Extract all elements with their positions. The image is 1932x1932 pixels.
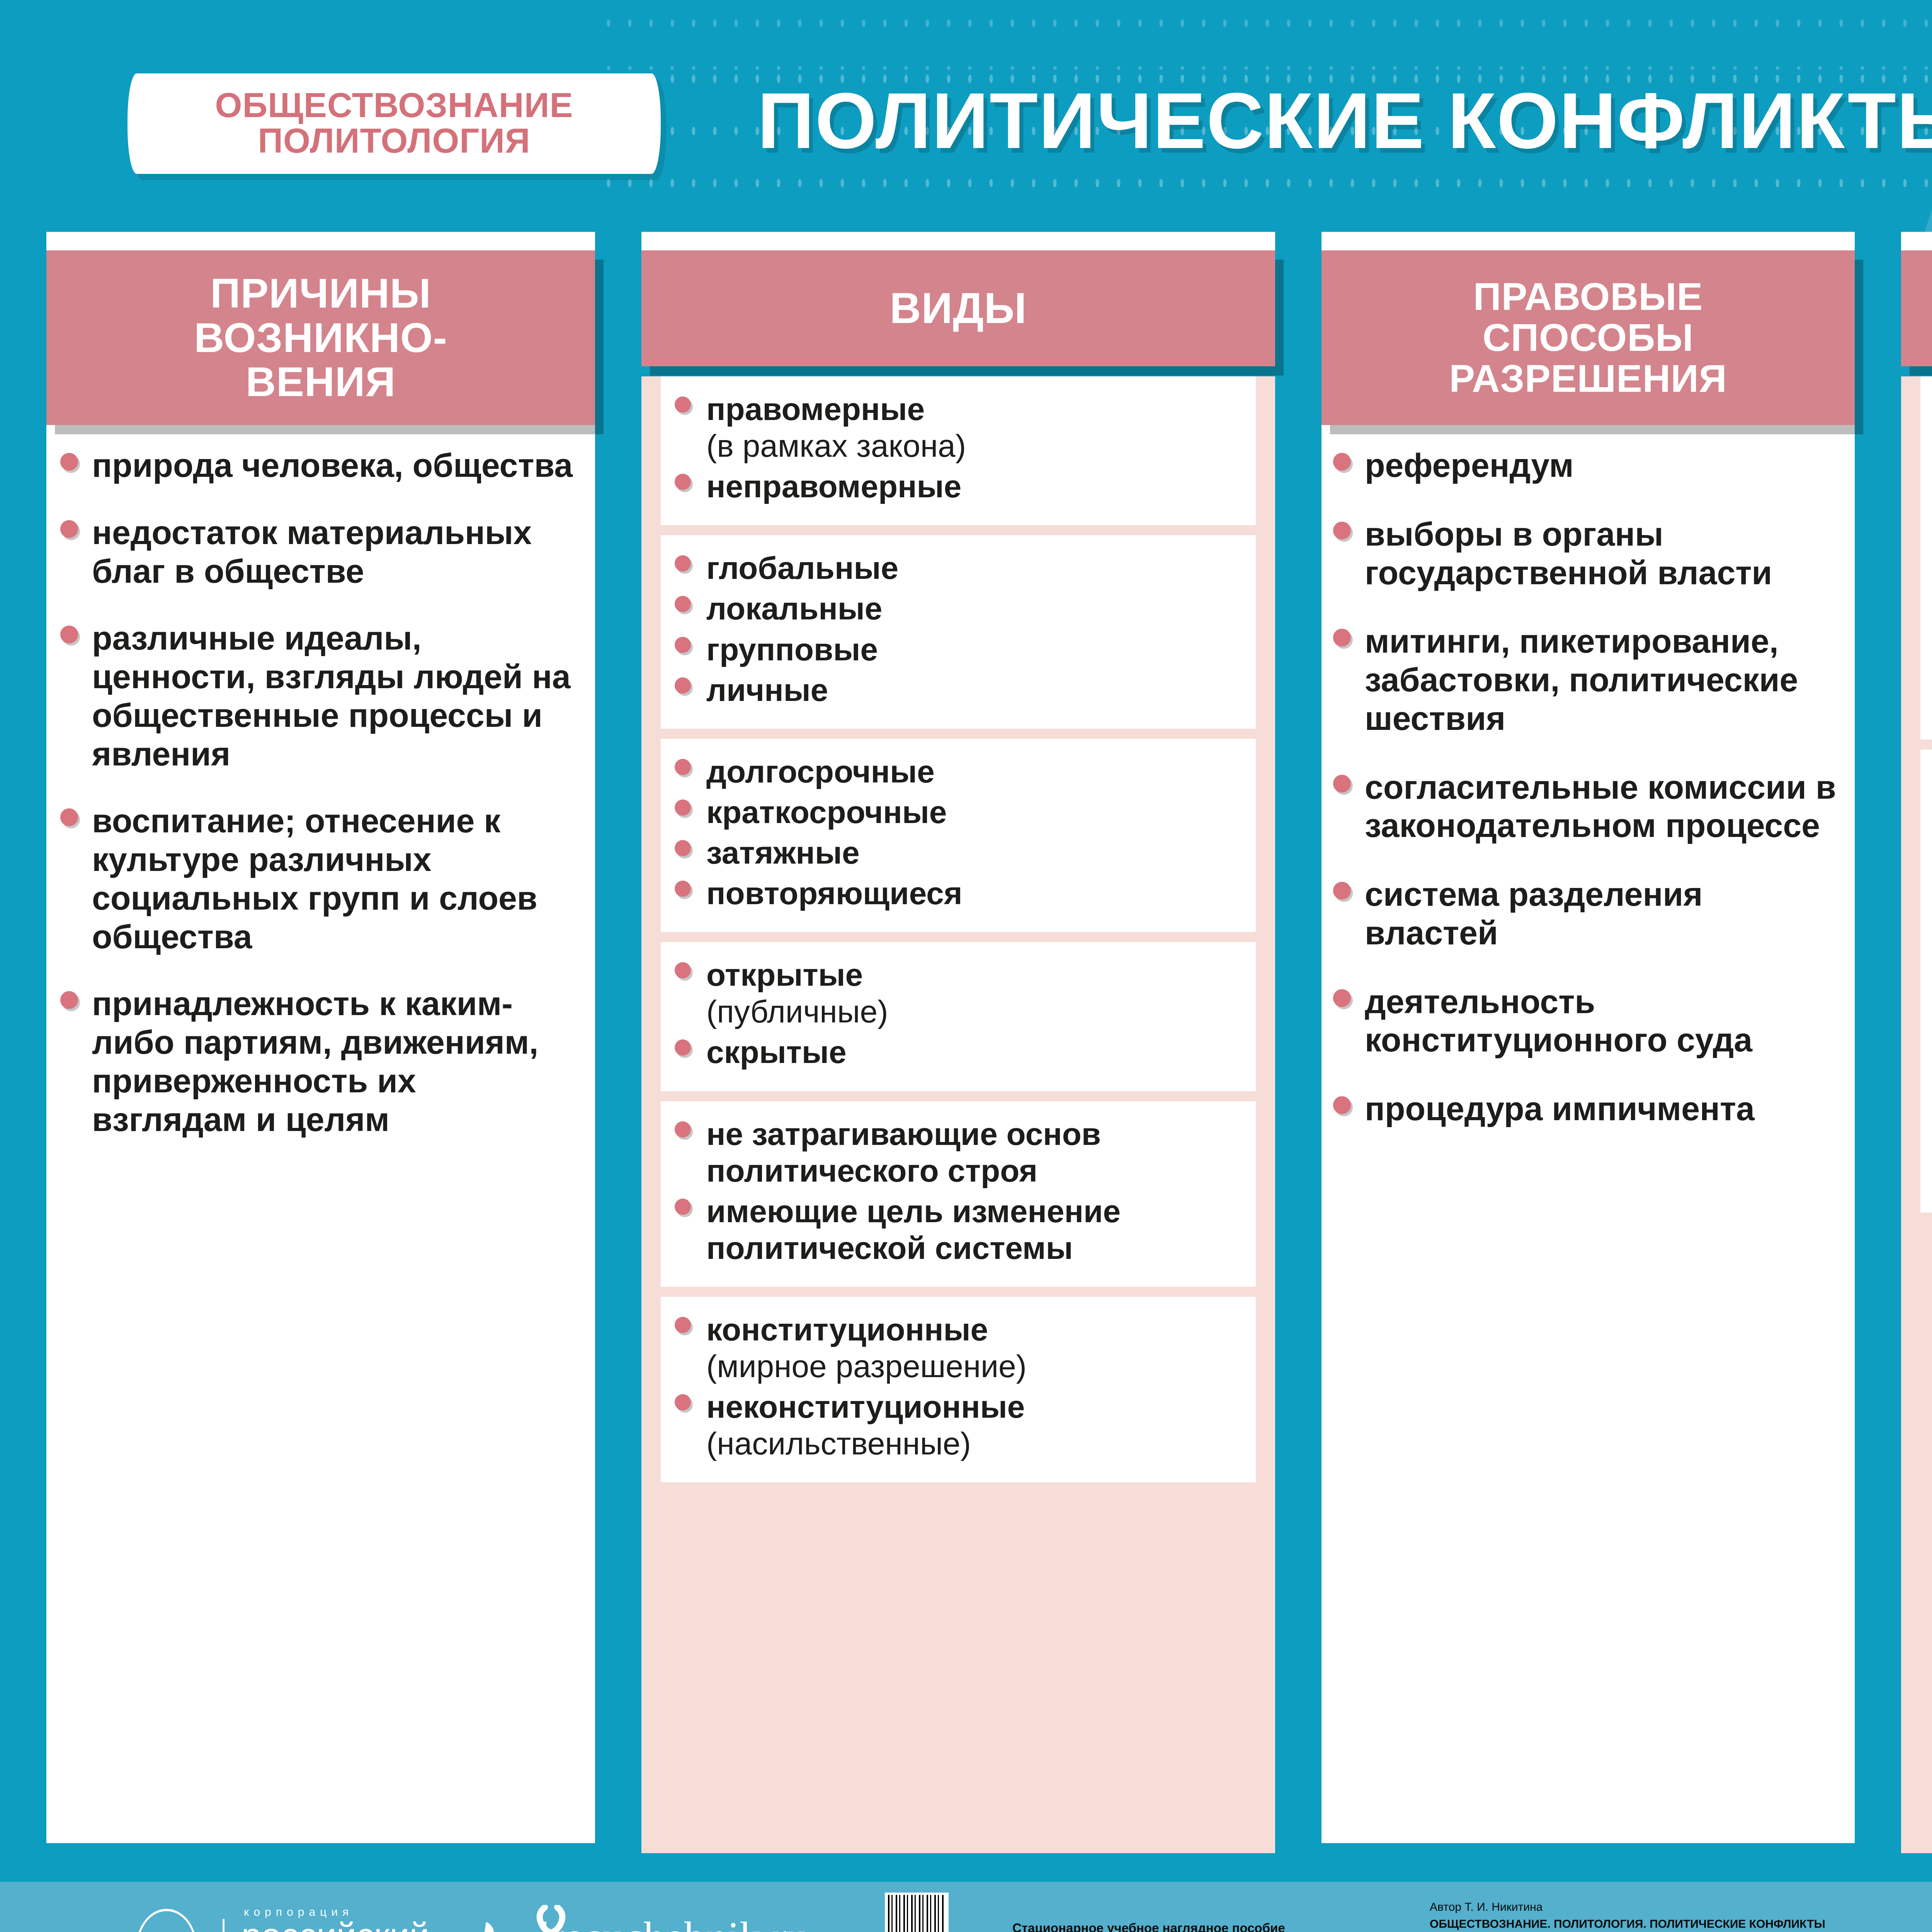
header-line: ВОЗНИКНО- bbox=[194, 314, 447, 361]
column-body-vidy: правомерные(в рамках закона) неправомерн… bbox=[641, 376, 1275, 1853]
column-funkcii: ФУНКЦИИ Отрицательные дестабилизация вла… bbox=[1901, 232, 1932, 1853]
item-text: правомерные bbox=[706, 392, 925, 427]
header-line: РАЗРЕШЕНИЯ bbox=[1449, 357, 1727, 400]
column-header-pravovye: ПРАВОВЫЕ СПОСОБЫ РАЗРЕШЕНИЯ bbox=[1321, 250, 1855, 425]
list-item: возникновение вооруженных конфликтов и и… bbox=[1927, 499, 1932, 572]
publisher-logo-block: RУ корпорация российский учебник дрофа bbox=[128, 1905, 594, 1932]
column-body-prichiny: природа челове­ка, общества недостаток м… bbox=[46, 425, 595, 1843]
subject-badge: ОБЩЕСТВОЗНАНИЕ ПОЛИТОЛОГИЯ bbox=[128, 73, 661, 174]
list-item: дестабилизация власти bbox=[1927, 449, 1932, 485]
list-item: повторяющиеся bbox=[665, 875, 1244, 912]
author-line: Автор Т. И. Никитина bbox=[1430, 1899, 1825, 1916]
section-heading-positive: Положительные bbox=[1927, 767, 1932, 810]
group-card: долгосрочные краткосрочные затяжные повт… bbox=[661, 739, 1256, 932]
list-item: влияние на внешнюю и внутреннюю политику bbox=[1927, 1145, 1932, 1182]
header-line: ПРИЧИНЫ bbox=[210, 270, 431, 316]
list-item: долгосрочные bbox=[665, 753, 1244, 790]
item-note: (в рамках закона) bbox=[706, 429, 966, 464]
list-positive: четкое формулирование позиций и целей уч… bbox=[1927, 822, 1932, 1182]
list-negative: дестабилизация власти возникновение воор… bbox=[1927, 449, 1932, 709]
website-link[interactable]: |rosuchebnik.ru bbox=[541, 1913, 808, 1932]
barcode: 9 785358 061118 bbox=[885, 1893, 949, 1932]
group-card: не затрагивающие основ политиче­ского ст… bbox=[661, 1101, 1256, 1287]
list-item: референдум bbox=[1323, 447, 1845, 485]
imprint-credits: Автор Т. И. Никитина ОБЩЕСТВОЗНАНИЕ. ПОЛ… bbox=[1430, 1899, 1825, 1932]
section-heading-negative: Отрицательные bbox=[1927, 393, 1932, 437]
column-top-strip bbox=[1901, 232, 1932, 250]
list-item: объединение политических единомышленнико… bbox=[1927, 959, 1932, 995]
list-item: затяжные bbox=[665, 835, 1244, 871]
list-group: конституционные(мирное разрешение) некон… bbox=[665, 1311, 1244, 1462]
item-text: открытые bbox=[706, 957, 863, 993]
column-header-funkcii: ФУНКЦИИ bbox=[1901, 250, 1932, 366]
content-columns: ПРИЧИНЫ ВОЗНИКНО- ВЕНИЯ природа челове­к… bbox=[0, 232, 1932, 1882]
badge-discipline: ПОЛИТОЛОГИЯ bbox=[258, 124, 530, 159]
list-item: неправомерные bbox=[665, 468, 1244, 505]
list-item: имеющие цель изменение полити­ческой сис… bbox=[665, 1193, 1244, 1267]
list-item: локальные bbox=[665, 590, 1244, 627]
list-item: разобщенность в обществе bbox=[1927, 585, 1932, 622]
list-item: природа челове­ка, общества bbox=[50, 447, 580, 485]
list-group: глобальные локальные групповые личные bbox=[665, 550, 1244, 708]
list-item: выявление скрытых противо­речий в общест… bbox=[1927, 909, 1932, 946]
header-line: СПОСОБЫ bbox=[1483, 316, 1694, 359]
list-group: правомерные(в рамках закона) неправомерн… bbox=[665, 391, 1244, 505]
list-item: скрытые bbox=[665, 1034, 1244, 1071]
poster-footer: RУ корпорация российский учебник дрофа bbox=[0, 1882, 1932, 1932]
poster-header: ОБЩЕСТВОЗНАНИЕ ПОЛИТОЛОГИЯ ПОЛИТИЧЕСКИЕ … bbox=[0, 0, 1932, 240]
group-card: правомерные(в рамках закона) неправомерн… bbox=[661, 376, 1256, 525]
list-item: четкое формулирование позиций и целей уч… bbox=[1927, 822, 1932, 895]
item-text: неправомерные bbox=[706, 469, 961, 504]
item-text: конституционные bbox=[706, 1312, 988, 1347]
barcode-bars bbox=[888, 1895, 946, 1932]
list-item: открытые(публичные) bbox=[665, 957, 1244, 1030]
column-top-strip bbox=[46, 232, 595, 250]
column-vidy: ВИДЫ правомерные(в рамках закона) неправ… bbox=[641, 232, 1275, 1853]
aid-type-label: Стационарное учебное наглядное пособие bbox=[1012, 1919, 1285, 1932]
list-item: групповые bbox=[665, 631, 1244, 668]
list-item: правомерные(в рамках закона) bbox=[665, 391, 1244, 464]
list-item: привлечение государственных средств для … bbox=[1927, 635, 1932, 709]
drofa-mark-icon bbox=[461, 1919, 508, 1932]
list-item: недостаток мате­риальных благ в обществе bbox=[50, 514, 580, 591]
list-item: процедура импичмента bbox=[1323, 1090, 1845, 1129]
section-card-positive: Положительные четкое формулирование пози… bbox=[1920, 750, 1932, 1213]
list-item: воспитание; отне­сение к культуре различ… bbox=[50, 802, 580, 956]
list-item: согласительные комиссии в зако­нодательн… bbox=[1323, 769, 1845, 846]
list-item: не затрагивающие основ политиче­ского ст… bbox=[665, 1116, 1244, 1189]
ru-monogram-icon: RУ bbox=[136, 1909, 197, 1932]
list-item: принадлежность к каким-либо партиям, дви… bbox=[50, 985, 580, 1139]
list-item: личные bbox=[665, 672, 1244, 709]
list-item: способствование проведению реформ bbox=[1927, 1095, 1932, 1132]
list-item: деятельность конституционного суда bbox=[1323, 983, 1845, 1060]
work-title-line: ОБЩЕСТВОЗНАНИЕ. ПОЛИТОЛОГИЯ. ПОЛИТИЧЕСКИ… bbox=[1430, 1916, 1825, 1932]
page-title: ПОЛИТИЧЕСКИЕ КОНФЛИКТЫ bbox=[757, 75, 1932, 167]
list-item: влияние оппозиции на госу­дарственную вл… bbox=[1927, 1009, 1932, 1082]
item-note: (мирное разрешение) bbox=[706, 1349, 1027, 1384]
column-body-pravovye: референдум выборы в органы государственн… bbox=[1321, 425, 1855, 1843]
header-line: ВЕНИЯ bbox=[246, 358, 396, 405]
group-card: открытые(публичные) скрытые bbox=[661, 942, 1256, 1091]
list-pravovye: референдум выборы в органы государственн… bbox=[1323, 447, 1845, 1129]
item-note: (насильственные) bbox=[706, 1426, 971, 1461]
list-prichiny: природа челове­ка, общества недостаток м… bbox=[50, 447, 580, 1139]
column-top-strip bbox=[641, 232, 1275, 250]
column-header-vidy: ВИДЫ bbox=[641, 250, 1275, 366]
group-card: конституционные(мирное разрешение) некон… bbox=[661, 1297, 1256, 1482]
header-line: ВИДЫ bbox=[890, 286, 1027, 332]
badge-subject: ОБЩЕСТВОЗНАНИЕ bbox=[215, 88, 573, 124]
divider bbox=[223, 1919, 224, 1932]
list-group: не затрагивающие основ политиче­ского ст… bbox=[665, 1116, 1244, 1267]
list-item: выборы в органы государственной власти bbox=[1323, 515, 1845, 593]
section-card-negative: Отрицательные дестабилизация власти возн… bbox=[1920, 376, 1932, 740]
publisher-name: корпорация российский учебник bbox=[241, 1906, 434, 1932]
column-body-funkcii: Отрицательные дестабилизация власти возн… bbox=[1901, 376, 1932, 1853]
list-item: конституционные(мирное разрешение) bbox=[665, 1311, 1244, 1385]
list-item: различные идеа­лы, ценности, взгляды люд… bbox=[50, 619, 580, 774]
column-header-prichiny: ПРИЧИНЫ ВОЗНИКНО- ВЕНИЯ bbox=[46, 250, 595, 425]
column-pravovye-sposoby: ПРАВОВЫЕ СПОСОБЫ РАЗРЕШЕНИЯ референдум в… bbox=[1321, 232, 1855, 1843]
list-item: система разделе­ния властей bbox=[1323, 876, 1845, 953]
list-item: неконституционные(насильственные) bbox=[665, 1389, 1244, 1462]
list-group: долгосрочные краткосрочные затяжные повт… bbox=[665, 753, 1244, 912]
item-note: (публичные) bbox=[706, 994, 888, 1029]
item-text: неконституционные bbox=[706, 1389, 1025, 1425]
list-item: митинги, пикетирование, забастовки, поли… bbox=[1323, 622, 1845, 738]
group-card: глобальные локальные групповые личные bbox=[661, 535, 1256, 728]
list-item: глобальные bbox=[665, 550, 1244, 587]
publisher-line1: российский bbox=[241, 1918, 434, 1932]
list-group: открытые(публичные) скрытые bbox=[665, 957, 1244, 1071]
column-top-strip bbox=[1321, 232, 1855, 250]
header-line: ПРАВОВЫЕ bbox=[1473, 275, 1703, 318]
drofa-logo: дрофа bbox=[461, 1919, 508, 1932]
dot-pattern-top bbox=[599, 12, 1932, 70]
list-item: краткосрочные bbox=[665, 794, 1244, 831]
column-prichiny: ПРИЧИНЫ ВОЗНИКНО- ВЕНИЯ природа челове­к… bbox=[46, 232, 595, 1843]
